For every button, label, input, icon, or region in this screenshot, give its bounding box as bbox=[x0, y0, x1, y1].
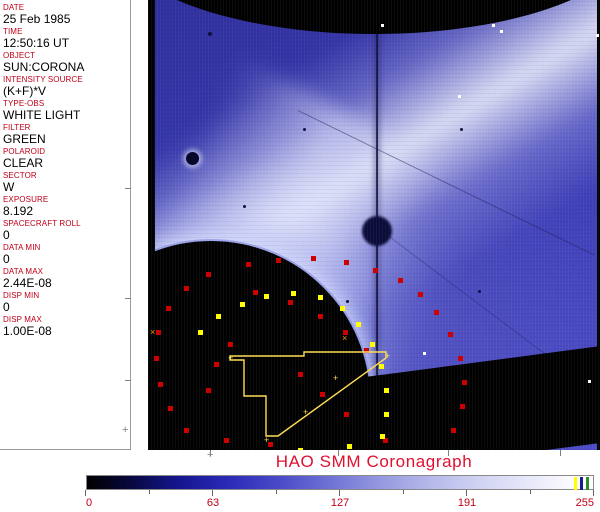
colorbar-tick bbox=[212, 490, 213, 496]
marker-cross: × bbox=[150, 328, 155, 337]
occulter-edge-artifact bbox=[186, 152, 199, 165]
meta-row-type-obs: TYPE-OBS WHITE LIGHT bbox=[3, 99, 130, 122]
marker-red bbox=[298, 372, 303, 377]
meta-value-data-min: 0 bbox=[3, 252, 130, 266]
star-point bbox=[588, 380, 591, 383]
roi-vertex-marker: + bbox=[333, 374, 338, 383]
meta-key-sector: SECTOR bbox=[3, 171, 130, 180]
meta-row-exposure: EXPOSURE 8.192 bbox=[3, 195, 130, 218]
axis-tick-left bbox=[125, 298, 131, 299]
meta-key-data-min: DATA MIN bbox=[3, 243, 130, 252]
marker-yellow bbox=[384, 388, 389, 393]
dark-pixel bbox=[478, 290, 481, 293]
marker-red bbox=[158, 382, 163, 387]
dark-pixel bbox=[346, 300, 349, 303]
dark-pixel bbox=[460, 128, 463, 131]
meta-row-spacecraft-roll: SPACECRAFT ROLL 0 bbox=[3, 219, 130, 242]
marker-yellow bbox=[298, 448, 303, 450]
marker-red bbox=[344, 412, 349, 417]
marker-yellow bbox=[318, 295, 323, 300]
colorbar-minor-tick bbox=[530, 490, 531, 494]
marker-yellow bbox=[240, 302, 245, 307]
pylon-support-ball bbox=[362, 216, 392, 246]
marker-yellow bbox=[356, 322, 361, 327]
marker-red bbox=[364, 348, 369, 353]
meta-row-filter: FILTER GREEN bbox=[3, 123, 130, 146]
meta-row-time: TIME 12:50:16 UT bbox=[3, 27, 130, 50]
colorbar[interactable]: 063127191255 bbox=[86, 475, 594, 512]
marker-red bbox=[311, 256, 316, 261]
meta-row-disp-max: DISP MAX 1.00E-08 bbox=[3, 315, 130, 338]
roi-vertex-marker: + bbox=[385, 352, 390, 361]
axis-tick-left bbox=[125, 380, 131, 381]
meta-value-data-max: 2.44E-08 bbox=[3, 276, 130, 290]
marker-red bbox=[228, 342, 233, 347]
marker-yellow bbox=[340, 306, 345, 311]
roi-vertex-marker: + bbox=[228, 354, 233, 363]
colorbar-minor-tick bbox=[403, 490, 404, 494]
dark-pixel bbox=[208, 32, 212, 36]
marker-red bbox=[434, 310, 439, 315]
colorbar-stripe bbox=[586, 477, 589, 490]
colorbar-minor-tick bbox=[149, 490, 150, 494]
marker-red bbox=[206, 388, 211, 393]
meta-value-time: 12:50:16 UT bbox=[3, 36, 130, 50]
meta-value-object: SUN:CORONA bbox=[3, 60, 130, 74]
meta-key-spacecraft-roll: SPACECRAFT ROLL bbox=[3, 219, 130, 228]
roi-vertex-marker: + bbox=[264, 436, 269, 445]
meta-key-polaroid: POLAROID bbox=[3, 147, 130, 156]
colorbar-tick bbox=[466, 490, 467, 496]
meta-key-disp-min: DISP MIN bbox=[3, 291, 130, 300]
marker-yellow bbox=[291, 291, 296, 296]
colorbar-tick-label: 255 bbox=[576, 497, 594, 509]
meta-row-intensity-source: INTENSITY SOURCE (K+F)*V bbox=[3, 75, 130, 98]
meta-value-disp-max: 1.00E-08 bbox=[3, 324, 130, 338]
marker-red bbox=[418, 292, 423, 297]
meta-key-date: DATE bbox=[3, 3, 130, 12]
marker-yellow bbox=[216, 314, 221, 319]
meta-key-type-obs: TYPE-OBS bbox=[3, 99, 130, 108]
star-point bbox=[423, 352, 426, 355]
marker-red bbox=[320, 392, 325, 397]
marker-red bbox=[184, 286, 189, 291]
star-point bbox=[500, 30, 503, 33]
marker-red bbox=[224, 438, 229, 443]
meta-value-date: 25 Feb 1985 bbox=[3, 12, 130, 26]
axis-plus-left: + bbox=[122, 425, 128, 436]
colorbar-stripe bbox=[574, 477, 577, 490]
colorbar-tick-label: 127 bbox=[331, 497, 349, 509]
meta-value-disp-min: 0 bbox=[3, 300, 130, 314]
marker-red bbox=[373, 268, 378, 273]
marker-red bbox=[288, 300, 293, 305]
colorbar-minor-tick bbox=[276, 490, 277, 494]
marker-red bbox=[398, 278, 403, 283]
marker-yellow bbox=[198, 330, 203, 335]
colorbar-tick bbox=[339, 490, 340, 496]
marker-red bbox=[276, 258, 281, 263]
meta-value-filter: GREEN bbox=[3, 132, 130, 146]
meta-value-sector: W bbox=[3, 180, 130, 194]
marker-red bbox=[156, 330, 161, 335]
meta-value-polaroid: CLEAR bbox=[3, 156, 130, 170]
meta-row-object: OBJECT SUN:CORONA bbox=[3, 51, 130, 74]
meta-row-polaroid: POLAROID CLEAR bbox=[3, 147, 130, 170]
colorbar-tick-labels: 063127191255 bbox=[86, 497, 594, 511]
meta-key-filter: FILTER bbox=[3, 123, 130, 132]
marker-yellow bbox=[379, 364, 384, 369]
coronagraph-image[interactable]: ×× +++++ bbox=[148, 0, 600, 450]
meta-key-exposure: EXPOSURE bbox=[3, 195, 130, 204]
star-point bbox=[458, 95, 461, 98]
meta-key-time: TIME bbox=[3, 27, 130, 36]
colorbar-ticks bbox=[86, 490, 594, 497]
vignette-left bbox=[148, 0, 155, 450]
meta-row-data-min: DATA MIN 0 bbox=[3, 243, 130, 266]
marker-yellow bbox=[384, 412, 389, 417]
meta-key-object: OBJECT bbox=[3, 51, 130, 60]
page-title: HAO SMM Coronagraph bbox=[148, 452, 600, 472]
dark-pixel bbox=[303, 128, 306, 131]
marker-red bbox=[318, 314, 323, 319]
meta-value-spacecraft-roll: 0 bbox=[3, 228, 130, 242]
marker-red bbox=[246, 262, 251, 267]
marker-red bbox=[448, 332, 453, 337]
meta-value-intensity-source: (K+F)*V bbox=[3, 84, 130, 98]
marker-yellow bbox=[370, 342, 375, 347]
star-point bbox=[492, 24, 495, 27]
marker-red bbox=[253, 290, 258, 295]
metadata-panel: DATE 25 Feb 1985 TIME 12:50:16 UT OBJECT… bbox=[0, 0, 131, 450]
marker-yellow bbox=[380, 434, 385, 439]
marker-yellow bbox=[264, 294, 269, 299]
colorbar-gradient bbox=[86, 475, 594, 490]
colorbar-tick bbox=[593, 490, 594, 496]
marker-red bbox=[460, 404, 465, 409]
marker-red bbox=[214, 362, 219, 367]
marker-red bbox=[206, 272, 211, 277]
marker-red bbox=[154, 356, 159, 361]
marker-red bbox=[462, 380, 467, 385]
meta-key-intensity-source: INTENSITY SOURCE bbox=[3, 75, 130, 84]
dark-pixel bbox=[243, 205, 246, 208]
star-point bbox=[381, 24, 384, 27]
marker-yellow bbox=[347, 444, 352, 449]
colorbar-tick-label: 63 bbox=[207, 497, 219, 509]
meta-row-data-max: DATA MAX 2.44E-08 bbox=[3, 267, 130, 290]
meta-row-sector: SECTOR W bbox=[3, 171, 130, 194]
colorbar-tick-label: 0 bbox=[86, 497, 92, 509]
marker-red bbox=[458, 356, 463, 361]
meta-row-date: DATE 25 Feb 1985 bbox=[3, 3, 130, 26]
axis-tick-left bbox=[125, 188, 131, 189]
marker-cross: × bbox=[342, 334, 347, 343]
marker-red bbox=[344, 260, 349, 265]
roi-vertex-marker: + bbox=[303, 408, 308, 417]
colorbar-stripe bbox=[580, 477, 583, 490]
marker-red bbox=[184, 428, 189, 433]
meta-key-data-max: DATA MAX bbox=[3, 267, 130, 276]
marker-red bbox=[451, 428, 456, 433]
marker-red bbox=[168, 406, 173, 411]
meta-value-type-obs: WHITE LIGHT bbox=[3, 108, 130, 122]
marker-red bbox=[166, 306, 171, 311]
star-point bbox=[596, 34, 599, 37]
meta-key-disp-max: DISP MAX bbox=[3, 315, 130, 324]
meta-row-disp-min: DISP MIN 0 bbox=[3, 291, 130, 314]
meta-value-exposure: 8.192 bbox=[3, 204, 130, 218]
colorbar-tick-label: 191 bbox=[458, 497, 476, 509]
colorbar-tick bbox=[85, 490, 86, 496]
